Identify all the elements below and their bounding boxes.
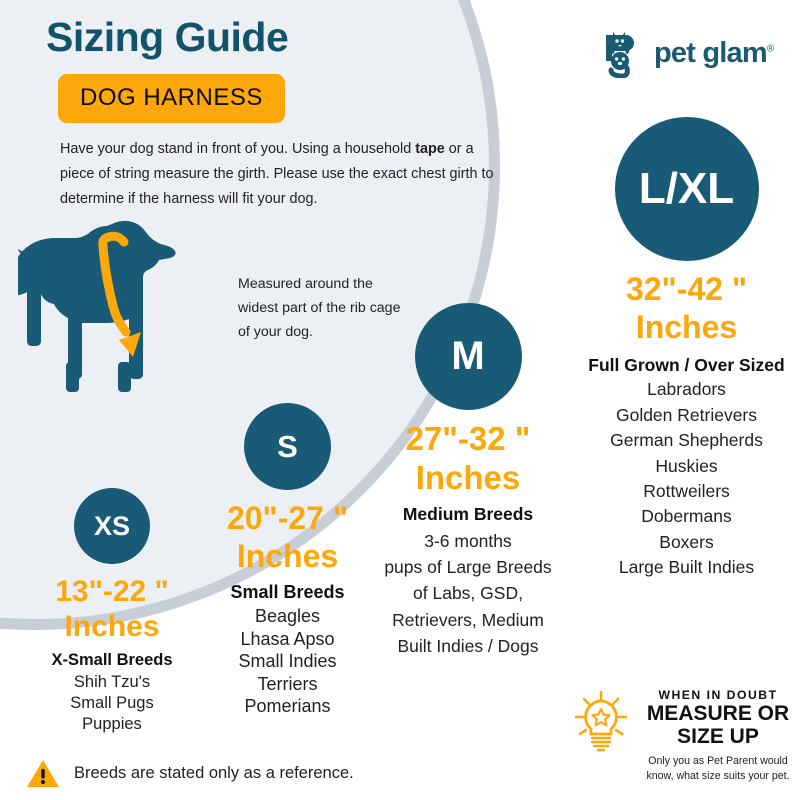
list-item: Golden Retrievers — [573, 403, 800, 428]
brand-name-text: pet glam — [654, 37, 767, 69]
list-item: Rottweilers — [573, 479, 800, 504]
warning-triangle-icon — [26, 758, 60, 789]
size-range-value-lxl: 32"-42 " — [573, 271, 800, 309]
list-item: Large Built Indies — [573, 555, 800, 580]
doubt-texts: WHEN IN DOUBT MEASURE OR SIZE UP Only yo… — [640, 688, 796, 784]
breed-list-lxl: Labradors Golden Retrievers German Sheph… — [573, 377, 800, 580]
brand-name: pet glam® — [654, 37, 773, 70]
list-item: Terriers — [180, 673, 395, 696]
breed-heading-lxl: Full Grown / Over Sized — [573, 355, 800, 377]
list-item: Huskies — [573, 454, 800, 479]
disclaimer-text: Breeds are stated only as a reference. — [74, 764, 354, 783]
breed-heading-m: Medium Breeds — [360, 504, 576, 526]
size-circle-lxl: L/XL — [615, 117, 759, 261]
doubt-headline-line1: MEASURE OR — [640, 703, 796, 726]
size-range-unit-lxl: Inches — [573, 309, 800, 347]
infographic-canvas: Sizing Guide DOG HARNESS Have your dog s… — [0, 0, 800, 800]
size-range-unit-m: Inches — [360, 459, 576, 498]
list-item: Boxers — [573, 530, 800, 555]
intro-instructions: Have your dog stand in front of you. Usi… — [60, 137, 510, 212]
brand-logo[interactable]: pet glam® — [604, 28, 773, 78]
list-item: of Labs, GSD, — [360, 580, 576, 606]
doubt-headline-line2: SIZE UP — [640, 726, 796, 749]
intro-text-part1: Have your dog stand in front of you. Usi… — [60, 141, 415, 157]
list-item: German Shepherds — [573, 428, 800, 453]
list-item: Labradors — [573, 377, 800, 402]
size-range-lxl: 32"-42 " Inches — [573, 271, 800, 347]
when-in-doubt-block: WHEN IN DOUBT MEASURE OR SIZE UP Only yo… — [570, 688, 796, 784]
size-circle-m: M — [415, 303, 522, 410]
dog-silhouette-icon — [18, 221, 176, 392]
intro-text-bold: tape — [415, 141, 445, 157]
product-category-badge: DOG HARNESS — [58, 74, 285, 123]
doubt-subtext: Only you as Pet Parent would know, what … — [640, 754, 796, 783]
disclaimer-note: Breeds are stated only as a reference. — [26, 758, 354, 789]
size-circle-s: S — [244, 403, 331, 490]
size-block-lxl: L/XL 32"-42 " Inches Full Grown / Over S… — [573, 117, 800, 580]
list-item: Built Indies / Dogs — [360, 633, 576, 659]
dog-illustration — [18, 212, 238, 397]
list-item: pups of Large Breeds — [360, 554, 576, 580]
size-range-value-m: 27"-32 " — [360, 420, 576, 459]
lightbulb-star-icon — [570, 688, 632, 754]
breed-list-m: 3-6 months pups of Large Breeds of Labs,… — [360, 528, 576, 659]
pg-pet-monogram-icon — [604, 28, 648, 78]
page-title: Sizing Guide — [46, 14, 288, 61]
size-block-m: M 27"-32 " Inches Medium Breeds 3-6 mont… — [360, 303, 576, 659]
size-range-m: 27"-32 " Inches — [360, 420, 576, 498]
size-circle-xs: XS — [74, 488, 150, 564]
doubt-headline: MEASURE OR SIZE UP — [640, 703, 796, 748]
list-item: Retrievers, Medium — [360, 607, 576, 633]
list-item: 3-6 months — [360, 528, 576, 554]
list-item: Dobermans — [573, 504, 800, 529]
registered-mark: ® — [767, 43, 774, 54]
list-item: Pomerians — [180, 695, 395, 718]
doubt-kicker: WHEN IN DOUBT — [640, 688, 796, 702]
